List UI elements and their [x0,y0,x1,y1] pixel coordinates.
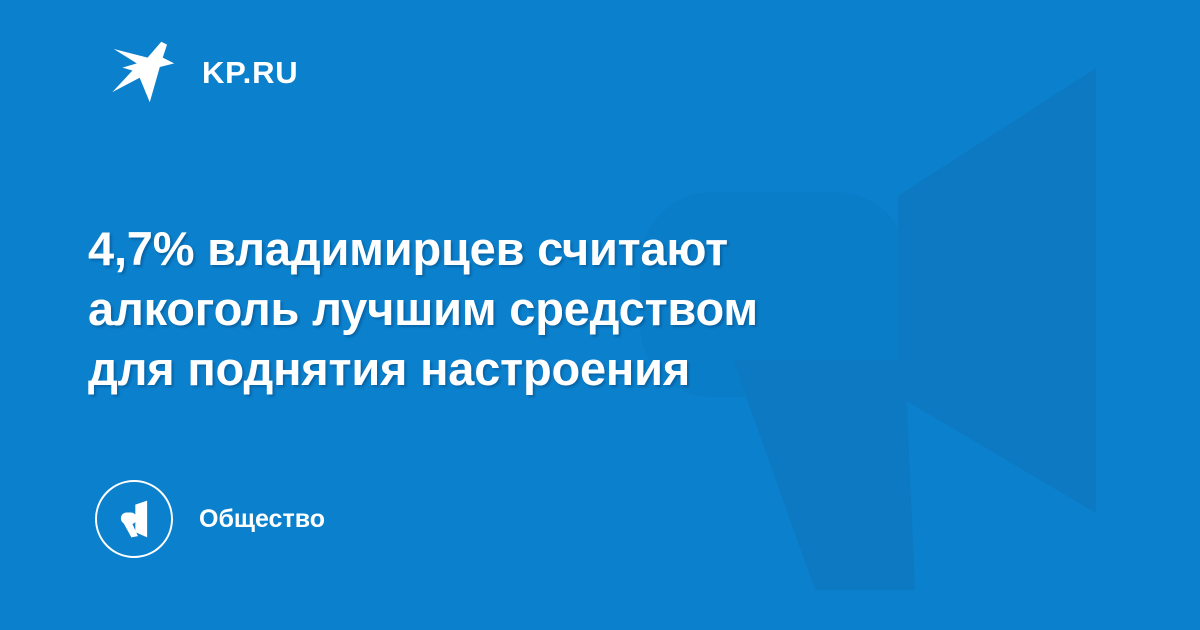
swallow-bird-logo-icon [108,36,180,108]
brand-logo-text: KP.RU [202,57,298,88]
megaphone-icon [113,498,155,540]
page-title: 4,7% владимирцев считают алкоголь лучшим… [88,219,988,399]
category-label: Общество [199,507,325,532]
headline-line-1: 4,7% владимирцев считают [88,219,988,279]
category-icon-circle [95,480,173,558]
headline-line-3: для поднятия настроения [88,339,988,399]
headline-line-2: алкоголь лучшим средством [88,279,988,339]
share-card: KP.RU 4,7% владимирцев считают алкоголь … [0,0,1200,630]
site-header: KP.RU [108,36,298,108]
category-badge[interactable]: Общество [95,480,325,558]
